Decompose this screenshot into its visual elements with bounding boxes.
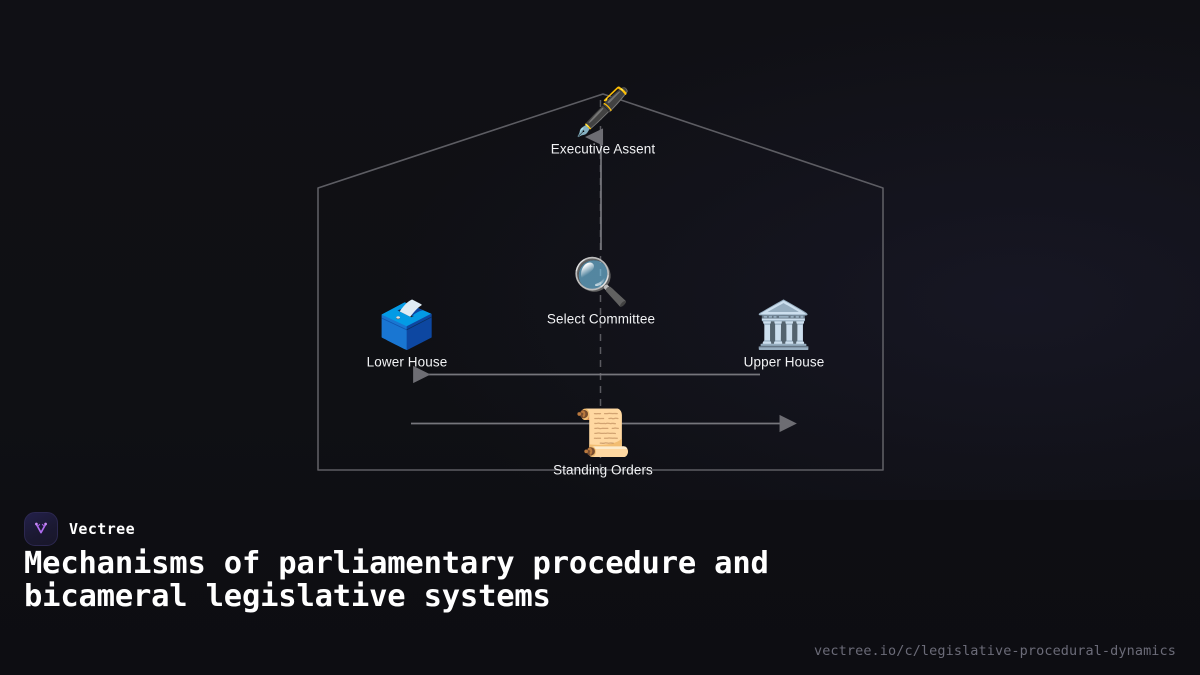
brand[interactable]: Vectree — [24, 512, 135, 546]
node-label-lower-house: Lower House — [367, 355, 448, 370]
node-standing-orders[interactable]: 📜 Standing Orders — [508, 405, 698, 478]
node-executive-assent[interactable]: 🖋️ Executive Assent — [508, 84, 698, 157]
diagram-canvas[interactable]: 🖋️ Executive Assent 🔍 Select Committee 🗳… — [0, 0, 1200, 500]
footer-bar: Vectree Mechanisms of parliamentary proc… — [0, 500, 1200, 675]
node-select-committee[interactable]: 🔍 Select Committee — [506, 254, 696, 327]
node-label-select-committee: Select Committee — [547, 312, 655, 327]
scroll-icon: 📜 — [574, 405, 631, 461]
fountain-pen-icon: 🖋️ — [574, 84, 631, 140]
classical-building-icon: 🏛️ — [755, 297, 812, 353]
ballot-box-icon: 🗳️ — [378, 297, 435, 353]
page-title: Mechanisms of parliamentary procedure an… — [24, 548, 814, 613]
vectree-v-logo-icon — [24, 512, 58, 546]
brand-name: Vectree — [69, 520, 135, 538]
screenshot-root: 🖋️ Executive Assent 🔍 Select Committee 🗳… — [0, 0, 1200, 675]
node-label-executive-assent: Executive Assent — [551, 142, 655, 157]
node-label-upper-house: Upper House — [744, 355, 825, 370]
node-label-standing-orders: Standing Orders — [553, 463, 653, 478]
node-lower-house[interactable]: 🗳️ Lower House — [312, 297, 502, 370]
magnifying-glass-icon: 🔍 — [572, 254, 629, 310]
node-upper-house[interactable]: 🏛️ Upper House — [689, 297, 879, 370]
source-url: vectree.io/c/legislative-procedural-dyna… — [814, 643, 1176, 659]
